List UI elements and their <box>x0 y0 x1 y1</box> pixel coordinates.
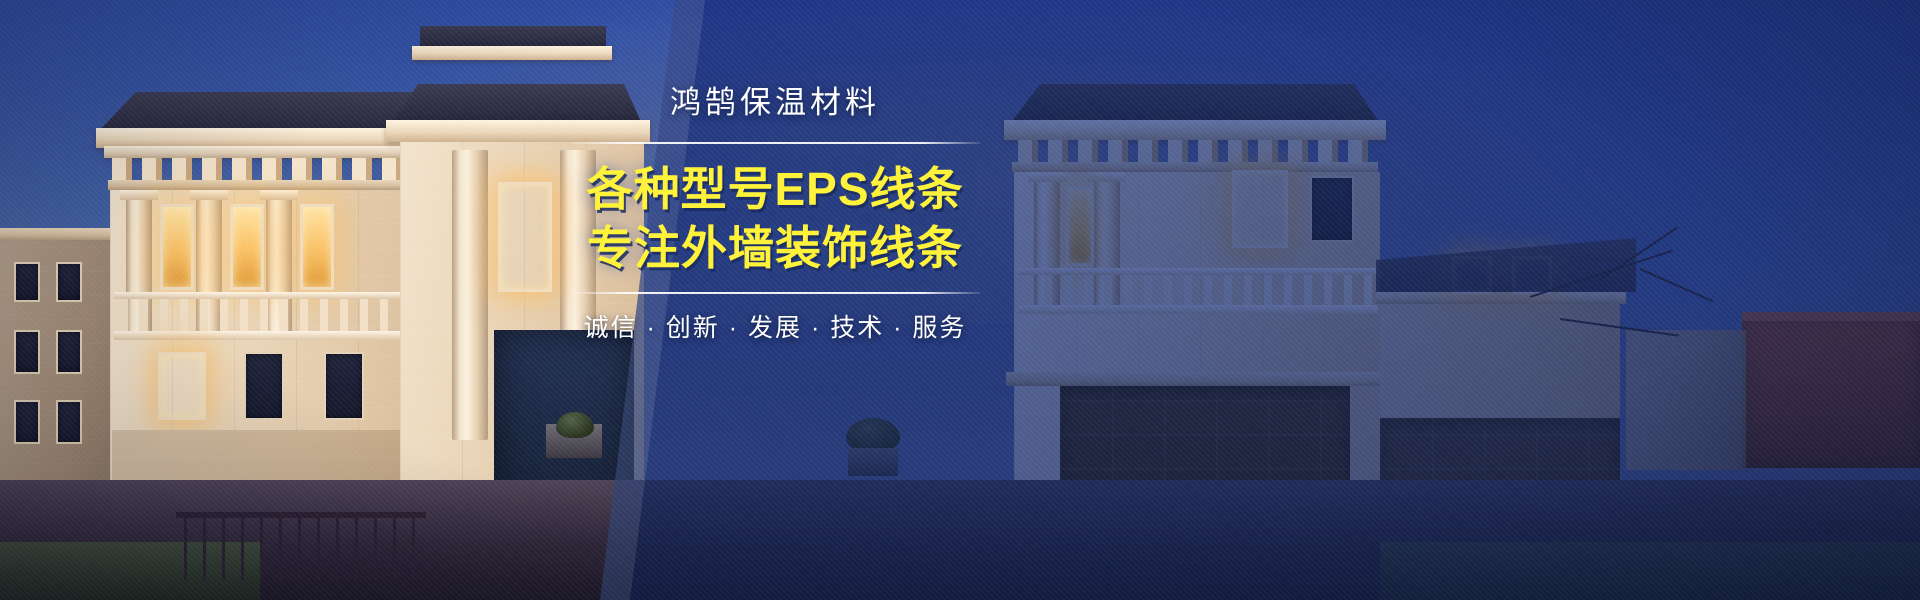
divider-bottom <box>570 292 980 294</box>
hero-banner: 鸿鹄保温材料 各种型号EPS线条 专注外墙装饰线条 诚信 · 创新 · 发展 ·… <box>0 0 1920 600</box>
headline-line-1: 各种型号EPS线条 <box>560 160 990 219</box>
brand-name: 鸿鹄保温材料 <box>560 86 990 120</box>
banner-copy: 鸿鹄保温材料 各种型号EPS线条 专注外墙装饰线条 诚信 · 创新 · 发展 ·… <box>560 86 990 344</box>
headline-line-2: 专注外墙装饰线条 <box>560 219 990 278</box>
tagline: 诚信 · 创新 · 发展 · 技术 · 服务 <box>560 308 990 344</box>
divider-top <box>570 142 980 144</box>
